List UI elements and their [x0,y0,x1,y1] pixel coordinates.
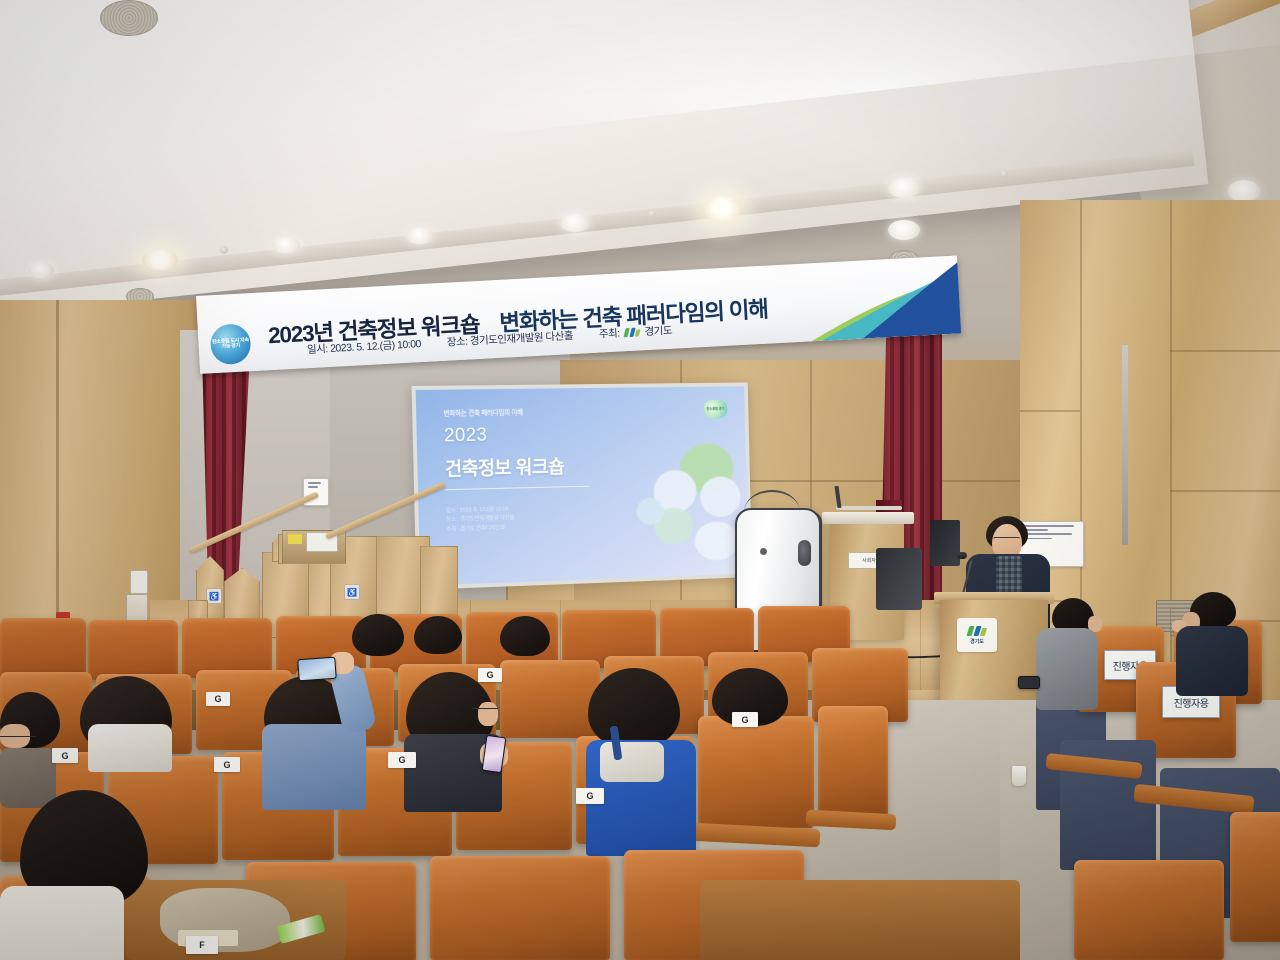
smoke-detector-icon [648,210,656,218]
banner-left-logo-text: 탄소중립 도시 지속가능 경기 [210,338,251,351]
attendee-knit-sweater [0,886,124,960]
photograph-auditorium-scene: 탄소중립 도시 지속가능 경기 2023년 건축정보 워크숍 변화하는 건축 패… [0,0,1280,960]
ceiling-downlight-icon [272,237,300,253]
attendee-hair [414,616,462,654]
smoke-detector-icon [220,246,228,254]
av-equipment-case [876,548,922,610]
phone-camera[interactable] [297,657,336,682]
lectern-light-strip [836,506,902,510]
seat-row-label: G [478,668,502,682]
attendee-collar [600,742,664,782]
attendee-torso [1176,626,1248,696]
audience-seat[interactable] [500,660,600,738]
seat-row-label: G [388,752,416,768]
microphone-icon [957,552,967,559]
audience-seat[interactable] [0,618,86,680]
seat-row-label: G [206,692,230,706]
warning-label-icon [288,534,302,544]
av-speaker-box [930,520,960,566]
banner-host-prefix: 주최: [599,326,621,342]
slide-meta-host: 주최 : 경기도 건축디자인과 [446,524,514,535]
attendee-torso [1036,628,1098,710]
attendee-shirt [262,724,366,810]
slide-logo-icon: 탄소중립 경기 [703,400,727,419]
slide-year: 2023 [444,425,488,448]
audience-seat[interactable] [182,618,272,678]
audience-seat[interactable] [818,706,888,816]
phone[interactable] [1018,676,1040,689]
ceiling-downlight-icon [1228,180,1260,202]
ceiling-downlight-icon [703,196,741,222]
gyeonggi-logo-icon [968,626,986,636]
paper-cup [1012,766,1026,786]
slide-meta: 일시 : 2023. 5. 12.(금) 10:00 장소 : 경기도인재개발원… [446,505,515,535]
attendee-shirt [88,724,172,772]
ceiling-downlight-icon [888,220,920,240]
seat-row-label: G [732,712,758,727]
seat-row-label-front: F [186,936,218,954]
seat-row-label: G [52,748,78,763]
slide-kicker: 변화하는 건축 패러다임의 이해 [443,406,522,417]
banner-left-logo-icon: 탄소중립 도시 지속가능 경기 [210,323,252,365]
ceiling-downlight-icon [28,262,54,278]
attendee-torso [0,748,56,808]
ceiling-downlight-icon [888,178,920,198]
slide-title: 건축정보 워크숍 [445,452,565,481]
wheelchair-access-icon: ♿ [206,588,222,604]
attendee-eyeglasses-icon [0,736,36,743]
accessibility-sign [130,570,148,594]
gyeonggi-logo-icon [624,327,639,337]
ceiling-downlight-icon [142,250,178,270]
attendee-hair [352,614,404,656]
seat-row-label: G [576,788,604,804]
banner-host-name: 경기도 [644,323,672,339]
smoke-detector-icon [1000,170,1008,178]
air-purifier-indicator-icon [760,548,767,555]
podium-emblem: 경기도 [957,618,997,652]
audience-seat[interactable] [1230,812,1280,942]
ceiling-downlight-icon [560,214,590,232]
seat-row-label: G [214,757,240,772]
projection-screen: 변화하는 건축 패러다임의 이해 2023 건축정보 워크숍 일시 : 2023… [412,382,753,589]
presentation-slide: 변화하는 건축 패러다임의 이해 2023 건축정보 워크숍 일시 : 2023… [416,386,749,585]
attendee-hair [500,616,550,656]
audience-seat[interactable] [430,856,610,960]
audience-seat[interactable] [88,620,178,680]
ceiling-downlight-icon [406,228,434,244]
audience-seat[interactable] [698,716,814,828]
banner-wave-graphic [807,255,961,341]
secondary-lectern-top [822,512,914,524]
audience-seat[interactable] [1074,860,1224,960]
speaker-eyeglasses-icon [993,537,1020,544]
slide-divider [445,486,589,491]
wall-trim-strip [1122,345,1128,545]
podium-emblem-caption: 경기도 [970,638,984,645]
seat-desk-surface [700,880,1020,960]
air-purifier-outlet-icon [798,540,811,566]
ceiling-air-diffuser [100,0,158,36]
attendee-eyeglasses-icon [472,708,498,715]
slide-logo-text: 탄소중립 경기 [707,407,725,411]
wheelchair-access-icon: ♿ [344,584,360,600]
